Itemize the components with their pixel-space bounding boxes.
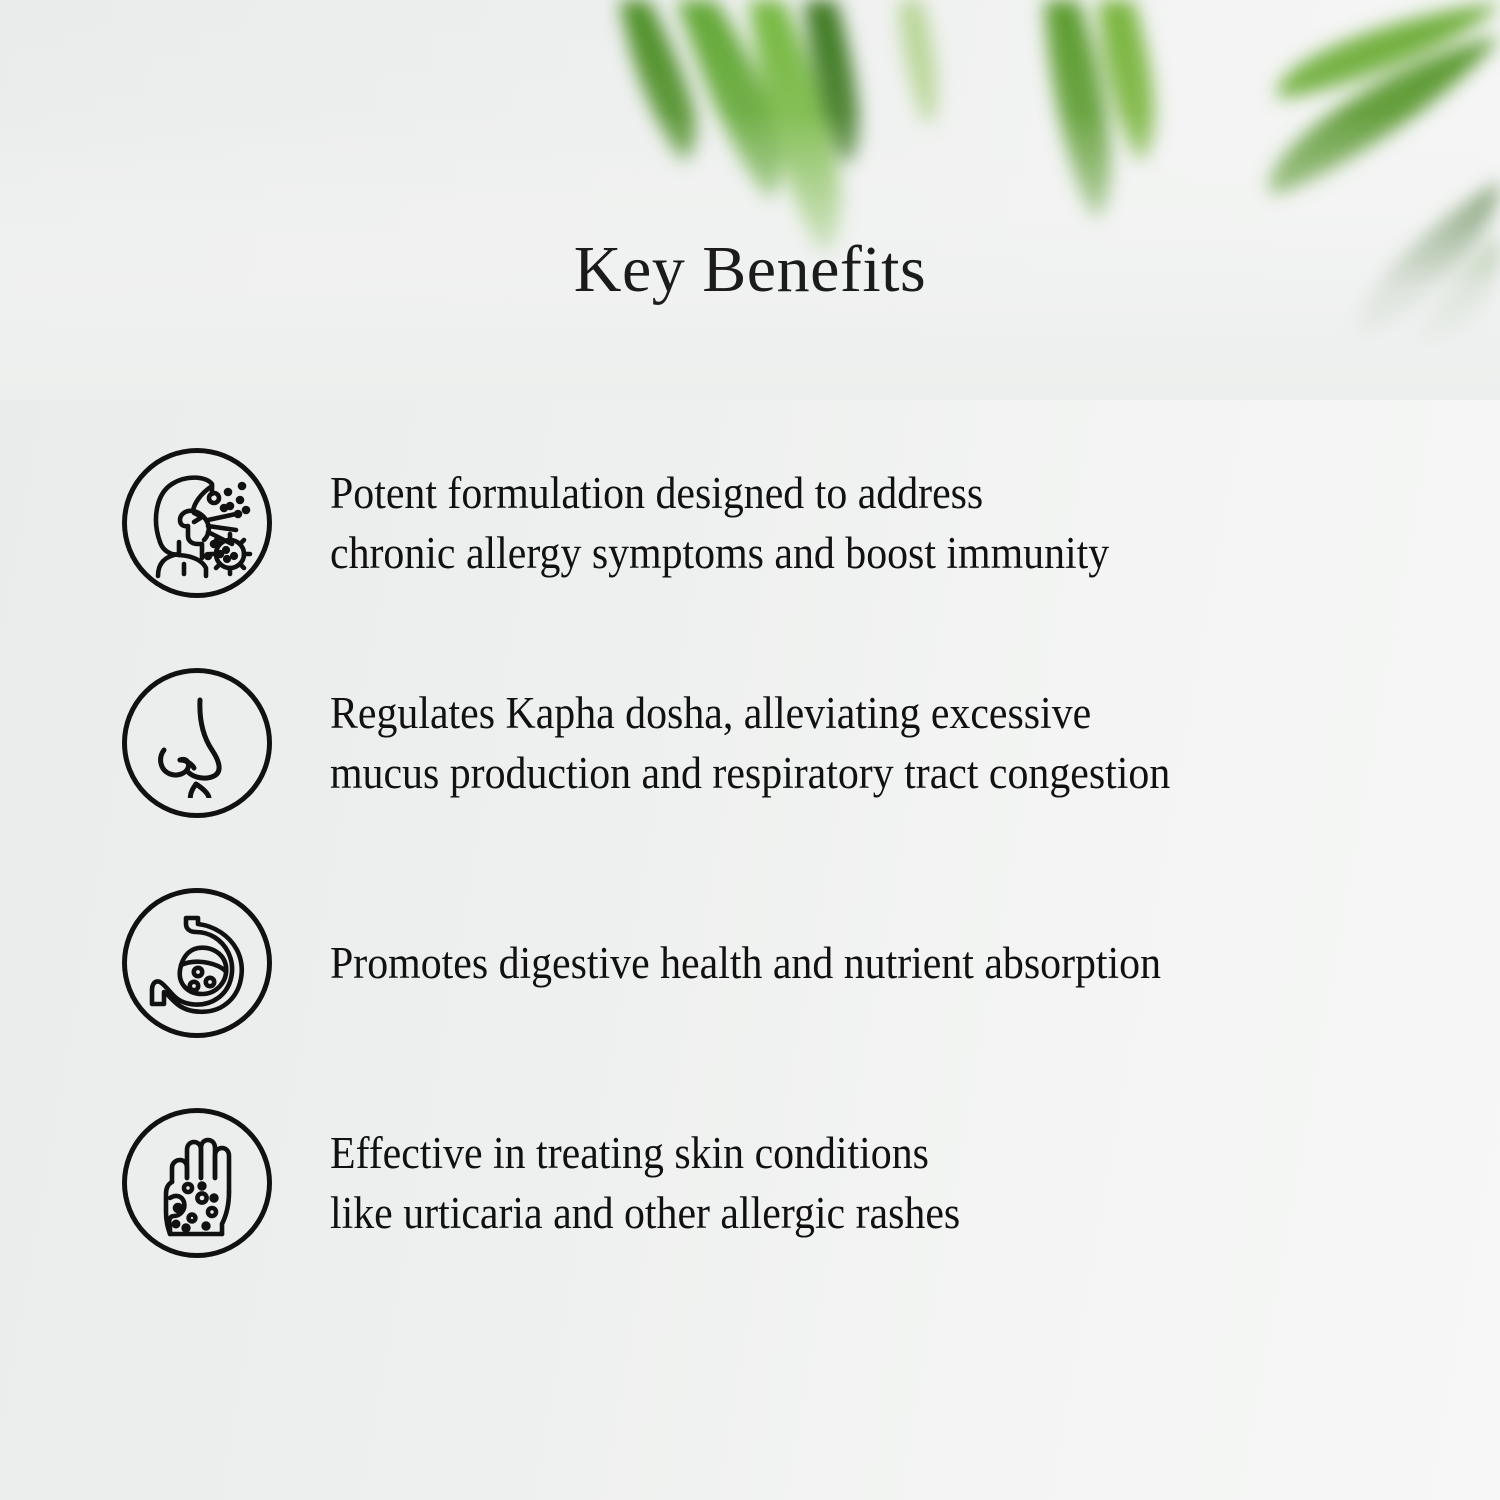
benefits-list: Potent formulation designed to address c… <box>0 413 1500 1293</box>
benefit-text: Regulates Kapha dosha, alleviating exces… <box>330 683 1362 803</box>
benefit-item-skin: Effective in treating skin conditions li… <box>0 1073 1500 1293</box>
hand-rash-skin-icon <box>122 1108 272 1258</box>
benefit-text: Effective in treating skin conditions li… <box>330 1123 1362 1243</box>
sneezing-person-allergen-icon <box>122 448 272 598</box>
benefit-text: Promotes digestive health and nutrient a… <box>330 933 1362 993</box>
benefit-item-allergy: Potent formulation designed to address c… <box>0 413 1500 633</box>
stomach-digestion-icon <box>122 888 272 1038</box>
benefit-item-digestion: Promotes digestive health and nutrient a… <box>0 853 1500 1073</box>
benefit-text: Potent formulation designed to address c… <box>330 463 1362 583</box>
page-title: Key Benefits <box>0 232 1500 308</box>
content-root: Key Benefits <box>0 0 1500 1500</box>
benefit-item-kapha: Regulates Kapha dosha, alleviating exces… <box>0 633 1500 853</box>
runny-nose-drip-icon <box>122 668 272 818</box>
